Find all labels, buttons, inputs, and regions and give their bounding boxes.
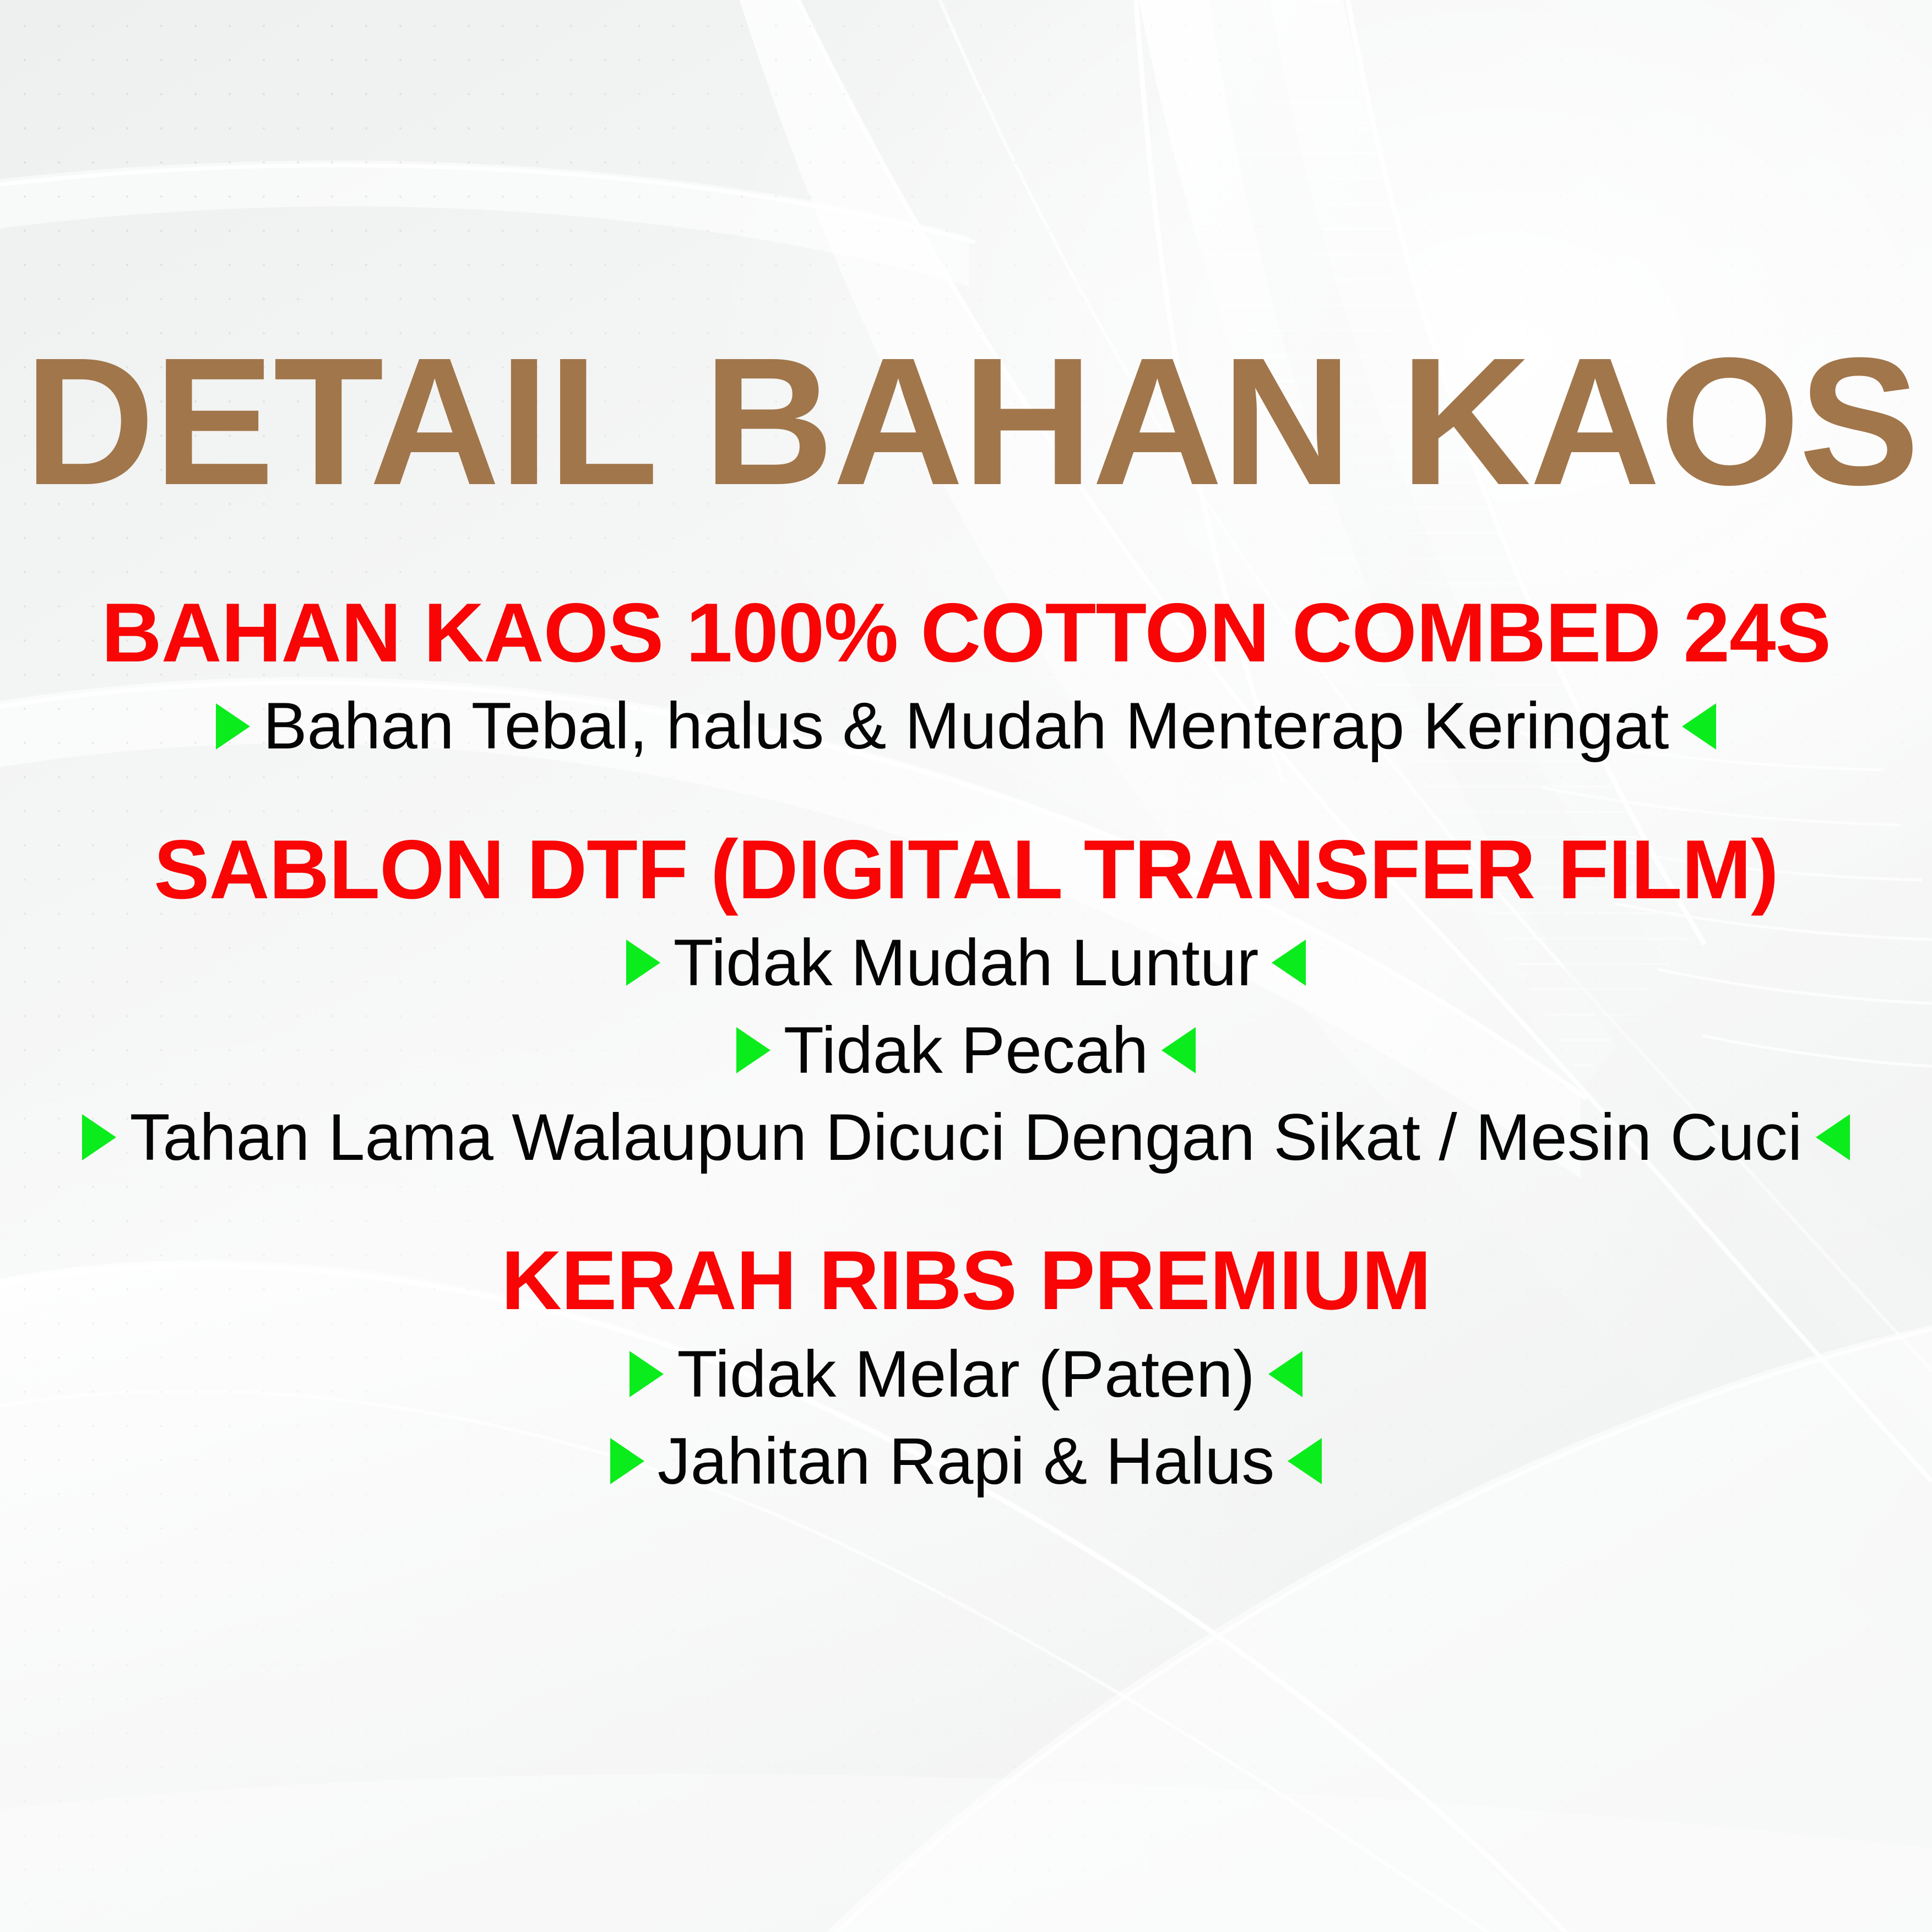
triangle-right-icon <box>736 1027 770 1073</box>
list-item-label: Bahan Tebal, halus & Mudah Menterap Keri… <box>263 682 1669 769</box>
list-item: Tidak Pecah <box>0 1007 1932 1094</box>
spec-list: BAHAN KAOS 100% COTTON COMBED 24S Bahan … <box>0 584 1932 1505</box>
triangle-left-icon <box>1816 1114 1850 1160</box>
triangle-right-icon <box>610 1438 644 1484</box>
list-item: Tidak Mudah Luntur <box>0 919 1932 1006</box>
triangle-left-icon <box>1288 1438 1322 1484</box>
section-spacer <box>0 1181 1932 1231</box>
list-item: Jahitan Rapi & Halus <box>0 1418 1932 1505</box>
list-item: Bahan Tebal, halus & Mudah Menterap Keri… <box>0 682 1932 769</box>
page-title: DETAIL BAHAN KAOS <box>24 330 1910 512</box>
section-heading-printing: SABLON DTF (DIGITAL TRANSFER FILM) <box>0 821 1932 919</box>
triangle-right-icon <box>626 940 660 986</box>
list-item-label: Tidak Pecah <box>784 1007 1149 1094</box>
triangle-right-icon <box>216 703 250 750</box>
list-item-label: Jahitan Rapi & Halus <box>658 1418 1275 1505</box>
list-item: Tahan Lama Walaupun Dicuci Dengan Sikat … <box>0 1094 1932 1181</box>
section-collar: KERAH RIBS PREMIUM Tidak Melar (Paten) J… <box>0 1231 1932 1505</box>
triangle-right-icon <box>629 1351 664 1397</box>
section-material: BAHAN KAOS 100% COTTON COMBED 24S Bahan … <box>0 584 1932 770</box>
poster-canvas: DETAIL BAHAN KAOS BAHAN KAOS 100% COTTON… <box>0 0 1932 1932</box>
list-item-label: Tahan Lama Walaupun Dicuci Dengan Sikat … <box>129 1094 1802 1181</box>
section-heading-collar: KERAH RIBS PREMIUM <box>0 1231 1932 1330</box>
section-spacer <box>0 770 1932 821</box>
triangle-left-icon <box>1162 1027 1196 1073</box>
triangle-right-icon <box>82 1114 116 1160</box>
section-printing: SABLON DTF (DIGITAL TRANSFER FILM) Tidak… <box>0 821 1932 1181</box>
section-heading-material: BAHAN KAOS 100% COTTON COMBED 24S <box>0 584 1932 682</box>
triangle-left-icon <box>1272 940 1306 986</box>
list-item: Tidak Melar (Paten) <box>0 1331 1932 1418</box>
list-item-label: Tidak Mudah Luntur <box>674 919 1259 1006</box>
triangle-left-icon <box>1682 703 1716 750</box>
list-item-label: Tidak Melar (Paten) <box>677 1331 1255 1418</box>
triangle-left-icon <box>1268 1351 1303 1397</box>
